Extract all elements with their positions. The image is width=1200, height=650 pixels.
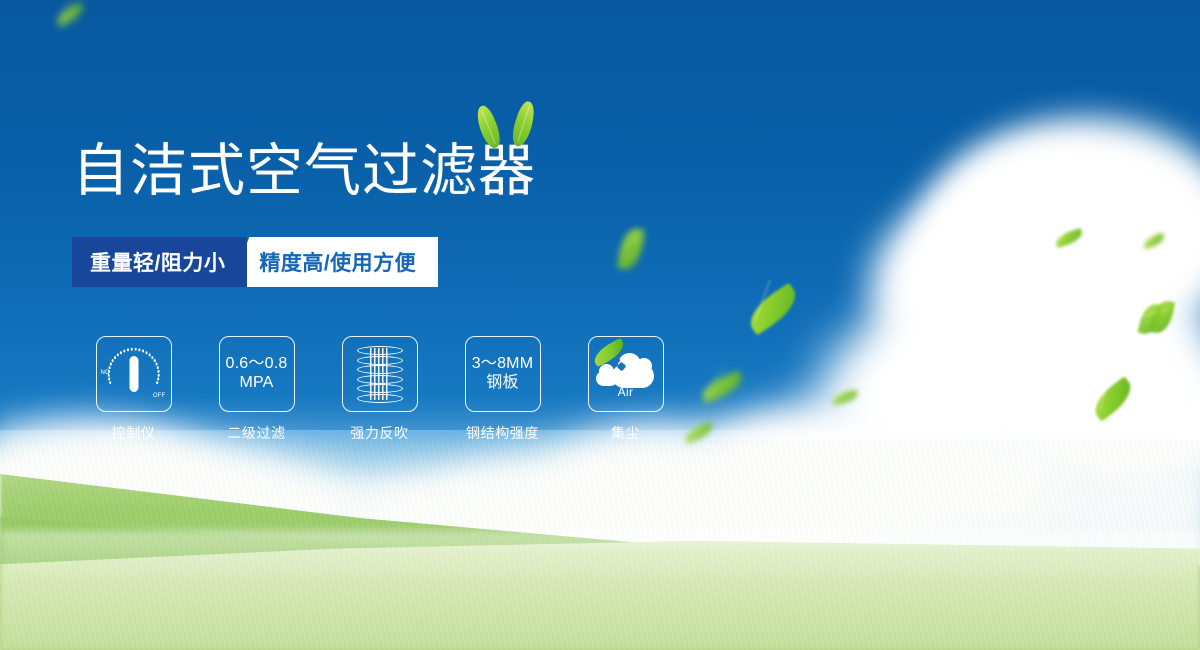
gauge-dot: [138, 348, 141, 351]
feature-caption: 控制仪: [112, 423, 156, 443]
feature-list: NO OFF 控制仪 0.6～0.8 MPA 二级过滤 强: [72, 336, 687, 443]
gauge-dot: [126, 348, 129, 351]
gauge-dot: [123, 350, 126, 353]
pressure-text-icon: 0.6～0.8 MPA: [226, 355, 288, 393]
gauge-icon: NO OFF: [105, 345, 163, 403]
air-label: Air: [596, 385, 656, 399]
gauge-dot: [157, 374, 160, 377]
feature-caption: 钢结构强度: [466, 423, 539, 443]
gauge-dot: [109, 381, 112, 384]
gauge-dot: [116, 353, 119, 356]
gauge-dot: [153, 359, 156, 362]
gauge-dot: [109, 363, 112, 366]
coil-ring: [357, 365, 403, 374]
feature-value-line1: 0.6～0.8: [226, 355, 288, 374]
feature-icon-box: NO OFF: [96, 336, 172, 412]
gauge-dot: [108, 378, 111, 381]
gauge-dot: [119, 351, 122, 354]
coil-ring: [357, 346, 403, 355]
feature-item-secondary-filter[interactable]: 0.6～0.8 MPA 二级过滤: [195, 336, 318, 443]
title-block: 自洁式空气过滤器: [72, 143, 536, 200]
gauge-label-on: NO: [101, 370, 110, 376]
subtitle-badge-primary: 重量轻/阻力小: [72, 237, 247, 287]
gauge-dot: [134, 348, 137, 351]
feature-icon-box: 3～8MM 钢板: [465, 336, 541, 412]
gauge-dot: [156, 381, 159, 384]
gauge-dot: [111, 359, 114, 362]
feature-item-control-gauge[interactable]: NO OFF 控制仪: [72, 336, 195, 443]
coil-ring: [357, 356, 403, 365]
gauge-dot: [130, 348, 133, 351]
gauge-label-off: OFF: [153, 393, 166, 399]
gauge-dot: [142, 350, 145, 353]
coil-ring: [357, 394, 403, 403]
coil-filter-icon: [357, 346, 403, 402]
subtitle-badge-secondary: 精度高/使用方便: [229, 237, 438, 287]
feature-caption: 强力反吹: [350, 423, 408, 443]
gauge-dot: [157, 378, 160, 381]
feature-value-line2: 钢板: [472, 374, 533, 393]
gauge-dot: [155, 363, 158, 366]
feature-item-reverse-blow[interactable]: 强力反吹: [318, 336, 441, 443]
hero-banner: 自洁式空气过滤器 重量轻/阻力小 精度高/使用方便 NO OFF 控制仪 0.: [0, 0, 1200, 650]
feature-caption: 二级过滤: [227, 423, 285, 443]
coil-ring: [357, 375, 403, 384]
gauge-dot: [157, 370, 160, 373]
gauge-dot: [114, 356, 117, 359]
page-title: 自洁式空气过滤器: [72, 143, 536, 200]
air-cloud-icon: Air: [596, 351, 656, 397]
feature-caption: 集尘: [611, 423, 640, 443]
gauge-dot: [156, 366, 159, 369]
cloud-small-shape: [596, 371, 618, 386]
gauge-pointer-icon: [129, 356, 138, 392]
gauge-dot: [108, 366, 111, 369]
feature-icon-box: Air: [588, 336, 664, 412]
feature-value-line2: MPA: [226, 374, 288, 393]
steel-text-icon: 3～8MM 钢板: [472, 355, 533, 393]
grass-highlight: [0, 530, 1200, 650]
coil-ring: [357, 384, 403, 393]
feature-value-line1: 3～8MM: [472, 355, 533, 374]
subtitle-badge-group: 重量轻/阻力小 精度高/使用方便: [72, 237, 438, 287]
feature-item-steel-strength[interactable]: 3～8MM 钢板 钢结构强度: [441, 336, 564, 443]
feature-icon-box: 0.6～0.8 MPA: [219, 336, 295, 412]
feature-icon-box: [342, 336, 418, 412]
feature-item-dust-collection[interactable]: Air 集尘: [564, 336, 687, 443]
